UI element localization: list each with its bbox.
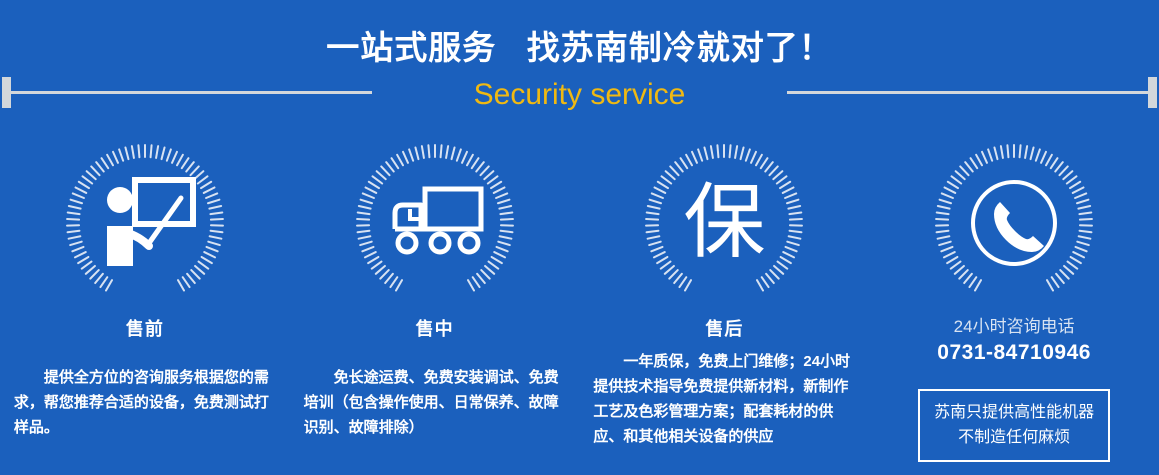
page-subtitle: Security service: [0, 76, 1159, 114]
presales-description: 提供全方位的咨询服务根据您的需求，帮您推荐合适的设备，免费测试打样品。: [14, 365, 276, 440]
delivery-truck-icon: [383, 171, 487, 275]
page-header: 一站式服务 找苏南制冷就对了！ Security service: [0, 0, 1159, 125]
contact-icon-wrap: [934, 143, 1094, 303]
phone-circle-icon[interactable]: [962, 171, 1066, 275]
guarantee-character-glyph: 保: [683, 182, 765, 264]
page-title: 一站式服务 找苏南制冷就对了！: [0, 28, 1159, 68]
contact-phone-number[interactable]: 0731-84710946: [937, 339, 1091, 367]
service-column-contact: 24小时咨询电话 0731-84710946 苏南只提供高性能机器 不制造任何麻…: [869, 125, 1159, 475]
service-column-during-sale: 售中 免长途运费、免费安装调试、免费培训（包含操作使用、日常保养、故障识别、故障…: [290, 125, 580, 475]
service-column-presales: 售前 提供全方位的咨询服务根据您的需求，帮您推荐合适的设备，免费测试打样品。: [0, 125, 290, 475]
aftersales-label: 售后: [705, 315, 743, 341]
aftersales-description: 一年质保，免费上门维修；24小时提供技术指导免费提供新材料，新制作工艺及色彩管理…: [593, 349, 855, 449]
service-column-aftersales: 保 售后 一年质保，免费上门维修；24小时提供技术指导免费提供新材料，新制作工艺…: [580, 125, 870, 475]
presales-label: 售前: [126, 315, 164, 341]
aftersales-icon-wrap: 保: [644, 143, 804, 303]
contact-slogan-line-2: 不制造任何麻烦: [934, 425, 1094, 450]
presenter-whiteboard-icon: [93, 171, 197, 275]
header-rule-right-line: [787, 91, 1150, 94]
during-sale-label: 售中: [416, 315, 454, 341]
during-sale-icon-wrap: [355, 143, 515, 303]
contact-caption: 24小时咨询电话: [954, 315, 1075, 339]
presales-icon-wrap: [65, 143, 225, 303]
service-columns: 售前 提供全方位的咨询服务根据您的需求，帮您推荐合适的设备，免费测试打样品。 售: [0, 125, 1159, 475]
header-rule-right-cap: [1148, 77, 1157, 108]
guarantee-character-icon: 保: [672, 171, 776, 275]
during-sale-description: 免长途运费、免费安装调试、免费培训（包含操作使用、日常保养、故障识别、故障排除）: [304, 365, 566, 440]
contact-slogan-box: 苏南只提供高性能机器 不制造任何麻烦: [918, 389, 1110, 462]
contact-slogan-line-1: 苏南只提供高性能机器: [934, 400, 1094, 425]
